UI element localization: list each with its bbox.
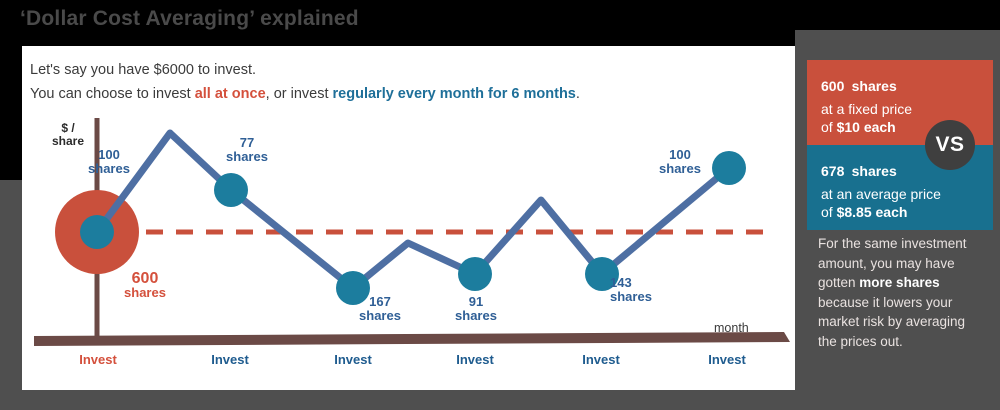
point-label-lump-sum-value: 600 <box>110 272 180 286</box>
comparison-blue-line-2-prefix: of <box>821 204 837 220</box>
comparison-blue-unit: shares <box>852 163 897 179</box>
x-axis <box>34 332 790 346</box>
point-label-lump-sum: 600 shares <box>110 272 180 300</box>
comparison-red-line-1: at a fixed price <box>821 101 981 118</box>
data-point-marker-4[interactable] <box>458 257 492 291</box>
versus-badge: VS <box>925 120 975 170</box>
x-tick-invest-5: Invest <box>556 352 646 367</box>
explanation-note-highlight: more shares <box>859 275 939 290</box>
point-label-4-unit: shares <box>441 309 511 323</box>
x-tick-invest-1: Invest <box>53 352 143 367</box>
explanation-note-part-c: because it lowers your market risk by av… <box>818 295 965 349</box>
point-label-5-unit: shares <box>610 290 680 304</box>
point-label-6-unit: shares <box>645 162 715 176</box>
y-axis-label-line-2: share <box>46 135 90 148</box>
infographic-root: ‘Dollar Cost Averaging’ explained Let's … <box>0 0 1000 410</box>
comparison-red-price: $10 each <box>837 119 896 135</box>
intro-line-2-part-c: . <box>576 86 580 102</box>
x-tick-invest-4: Invest <box>430 352 520 367</box>
data-point-marker-2[interactable] <box>214 173 248 207</box>
point-label-6: 100 shares <box>645 148 715 176</box>
data-point-marker-1[interactable] <box>80 215 114 249</box>
price-line <box>97 133 729 288</box>
explanation-note: For the same investment amount, you may … <box>818 234 986 351</box>
comparison-blue-price: $8.85 each <box>837 204 908 220</box>
comparison-red-line-2-prefix: of <box>821 119 837 135</box>
comparison-red-amount-row: 600 shares <box>821 70 981 100</box>
point-label-1: 100 shares <box>74 148 144 176</box>
x-tick-invest-6: Invest <box>682 352 772 367</box>
point-label-2: 77 shares <box>212 136 282 164</box>
comparison-blue-line-2: of $8.85 each <box>821 204 981 221</box>
point-label-3-unit: shares <box>345 309 415 323</box>
intro-highlight-regularly: regularly every month for 6 months <box>333 86 576 102</box>
point-label-2-unit: shares <box>212 150 282 164</box>
intro-line-2-part-a: You can choose to invest <box>30 86 195 102</box>
point-label-lump-sum-unit: shares <box>110 286 180 300</box>
point-label-1-unit: shares <box>74 162 144 176</box>
y-axis-label: $ / share <box>46 122 90 148</box>
comparison-red-amount: 600 <box>821 78 844 94</box>
point-label-1-value: 100 <box>74 148 144 162</box>
point-label-3: 167 shares <box>345 295 415 323</box>
point-label-4-value: 91 <box>441 295 511 309</box>
x-tick-invest-3: Invest <box>308 352 398 367</box>
intro-line-1: Let's say you have $6000 to invest. <box>30 60 730 80</box>
point-label-6-value: 100 <box>645 148 715 162</box>
point-label-5: 143 shares <box>610 276 680 304</box>
comparison-blue-line-1: at an average price <box>821 186 981 203</box>
intro-line-2: You can choose to invest all at once, or… <box>30 84 730 104</box>
comparison-blue-amount: 678 <box>821 163 844 179</box>
point-label-4: 91 shares <box>441 295 511 323</box>
point-label-2-value: 77 <box>212 136 282 150</box>
intro-highlight-all-at-once: all at once <box>195 86 266 102</box>
intro-text: Let's say you have $6000 to invest. You … <box>30 60 730 104</box>
point-label-3-value: 167 <box>345 295 415 309</box>
comparison-red-unit: shares <box>852 78 897 94</box>
page-title: ‘Dollar Cost Averaging’ explained <box>20 7 359 31</box>
point-label-5-value: 143 <box>610 276 680 290</box>
x-axis-label: month <box>714 322 768 335</box>
x-tick-invest-2: Invest <box>185 352 275 367</box>
intro-line-2-part-b: , or invest <box>266 86 333 102</box>
data-point-marker-6[interactable] <box>712 151 746 185</box>
